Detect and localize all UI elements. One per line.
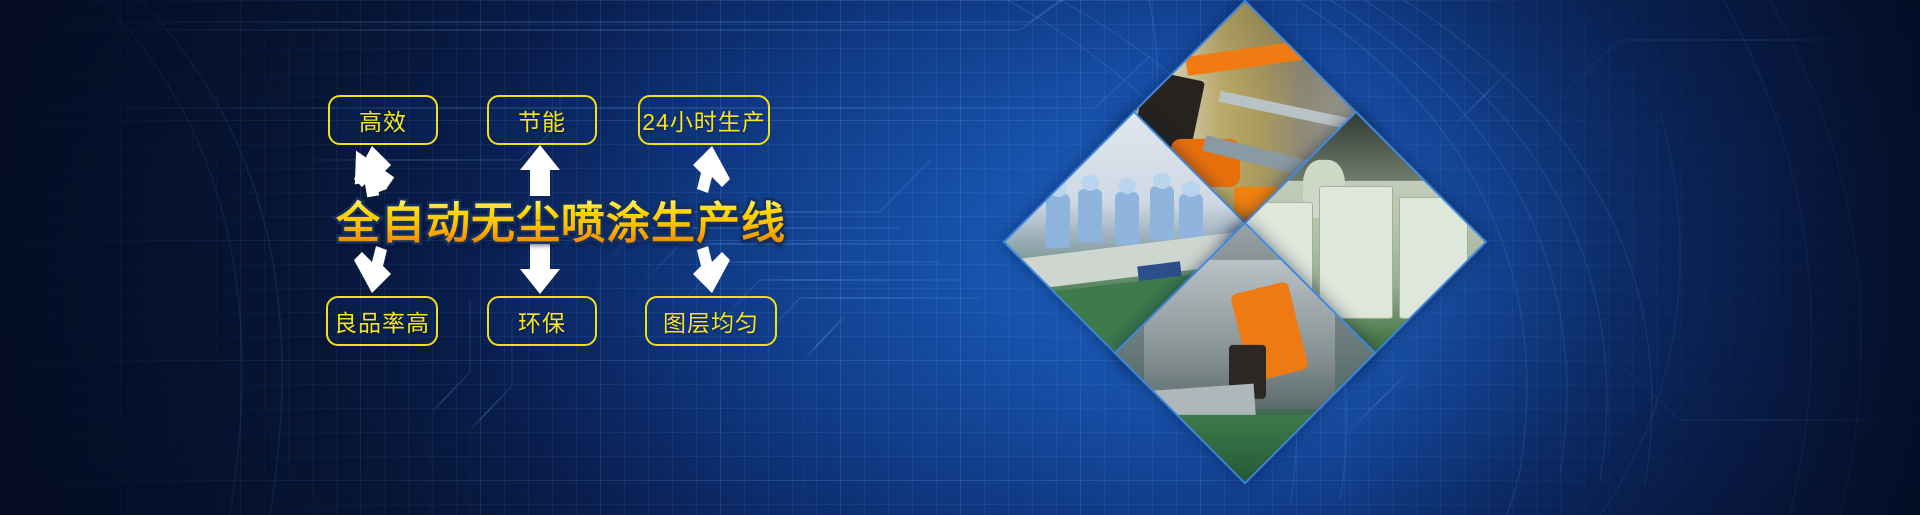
badge-label: 节能 (518, 103, 566, 137)
badge-label: 良品率高 (334, 304, 430, 338)
badge-uniform[interactable]: 图层均匀 (645, 296, 777, 346)
arrow-up (520, 145, 560, 196)
content-area: 高效 节能 24小时生产 全自动无尘喷涂生产线 全自动无尘喷涂生产线 良品率高 … (0, 0, 1020, 515)
arrow-down-left (354, 246, 391, 293)
badge-eco[interactable]: 环保 (487, 296, 597, 346)
badge-label: 高效 (359, 103, 407, 137)
arrow-down-right (693, 246, 730, 293)
page-title-text: 全自动无尘喷涂生产线 (336, 199, 786, 248)
arrow-up-right (693, 146, 730, 193)
promo-banner: 高效 节能 24小时生产 全自动无尘喷涂生产线 全自动无尘喷涂生产线 良品率高 … (0, 0, 1920, 515)
arrow-up-left (349, 145, 397, 199)
badge-label: 环保 (518, 304, 566, 338)
badge-yield[interactable]: 良品率高 (326, 296, 438, 346)
badge-jieneng[interactable]: 节能 (487, 95, 597, 145)
page-title: 全自动无尘喷涂生产线 全自动无尘喷涂生产线 (336, 196, 766, 252)
badge-label: 24小时生产 (642, 103, 766, 137)
badge-gaoxiao[interactable]: 高效 (328, 95, 438, 145)
badge-label: 图层均匀 (663, 304, 759, 338)
photo-collage (1035, 32, 1455, 462)
arrow-group (0, 0, 1020, 515)
badge-24hour[interactable]: 24小时生产 (638, 95, 770, 145)
